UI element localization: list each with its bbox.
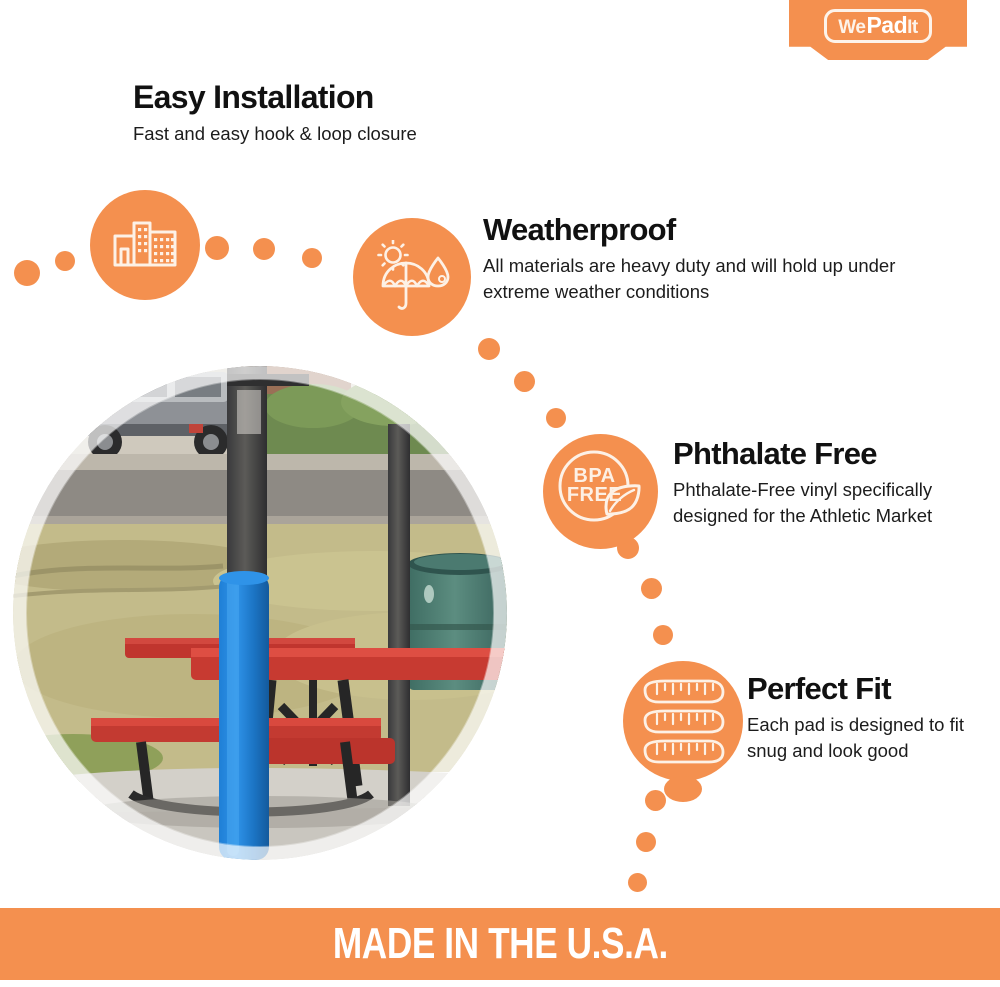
path-dot xyxy=(205,236,229,260)
feature-block-perfect-fit: Perfect Fit Each pad is designed to fit … xyxy=(747,672,987,765)
path-dot xyxy=(641,578,662,599)
brand-logo-text-we: We xyxy=(838,18,865,37)
feature-description-easy-installation: Fast and easy hook & loop closure xyxy=(133,121,417,147)
feature-description-weatherproof: All materials are heavy duty and will ho… xyxy=(483,253,903,306)
measuring-tape-end-dot xyxy=(664,776,702,802)
brand-logo-text-pad: Pad xyxy=(866,14,907,37)
brand-logo: We Pad It xyxy=(789,0,967,60)
feature-description-phthalate-free: Phthalate-Free vinyl specifically design… xyxy=(673,477,973,530)
building-icon xyxy=(112,217,178,273)
brand-logo-text-it: It xyxy=(907,18,918,37)
product-photo xyxy=(13,366,507,860)
path-dot xyxy=(636,832,656,852)
umbrella-sun-raindrop-icon xyxy=(373,240,451,314)
feature-title-perfect-fit: Perfect Fit xyxy=(747,672,987,706)
feature-title-easy-installation: Easy Installation xyxy=(133,80,417,115)
feature-icon-badge-phthalate-free: BPA FREE xyxy=(543,434,658,549)
feature-icon-badge-perfect-fit xyxy=(623,661,743,781)
path-dot xyxy=(628,873,647,892)
path-dot xyxy=(478,338,500,360)
feature-icon-badge-weatherproof xyxy=(353,218,471,336)
path-dot xyxy=(302,248,322,268)
brand-logo-frame: We Pad It xyxy=(824,9,931,43)
path-dot xyxy=(14,260,40,286)
measuring-tape-icon xyxy=(637,676,729,766)
bpa-free-icon-label: BPA FREE xyxy=(537,467,652,505)
bpa-free-icon-label-line2: FREE xyxy=(537,486,652,505)
made-in-usa-banner: MADE IN THE U.S.A. xyxy=(0,908,1000,980)
feature-block-phthalate-free: Phthalate Free Phthalate-Free vinyl spec… xyxy=(673,437,973,530)
feature-description-perfect-fit: Each pad is designed to fit snug and loo… xyxy=(747,712,987,765)
feature-title-phthalate-free: Phthalate Free xyxy=(673,437,973,471)
product-photo-scene xyxy=(13,366,507,860)
feature-block-weatherproof: Weatherproof All materials are heavy dut… xyxy=(483,213,903,306)
path-dot xyxy=(653,625,673,645)
path-dot xyxy=(645,790,666,811)
path-dot xyxy=(55,251,75,271)
feature-block-easy-installation: Easy Installation Fast and easy hook & l… xyxy=(133,80,417,147)
feature-title-weatherproof: Weatherproof xyxy=(483,213,903,247)
path-dot xyxy=(514,371,535,392)
path-dot xyxy=(546,408,566,428)
path-dot xyxy=(253,238,275,260)
feature-icon-badge-easy-installation xyxy=(90,190,200,300)
made-in-usa-text: MADE IN THE U.S.A. xyxy=(332,919,667,969)
